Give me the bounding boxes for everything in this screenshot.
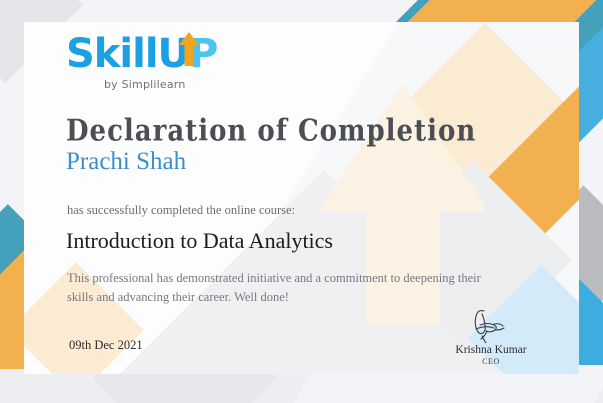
signer-name: Krishna Kumar: [432, 344, 550, 356]
page-title: Declaration of Completion: [66, 114, 476, 149]
signature-block: Krishna Kumar CEO: [432, 305, 550, 366]
certificate-content: SkillUP by Simplilearn Declaration of Co…: [0, 0, 603, 403]
up-arrow-icon: [178, 32, 200, 66]
logo-text-skill: Skill: [66, 31, 158, 77]
recipient-name: Prachi Shah: [66, 148, 186, 176]
skillup-logo: SkillUP by Simplilearn: [66, 34, 266, 90]
issue-date: 09th Dec 2021: [69, 338, 143, 353]
handwritten-signature-icon: [432, 305, 550, 343]
course-name: Introduction to Data Analytics: [66, 228, 333, 254]
certificate: SkillUP by Simplilearn Declaration of Co…: [0, 0, 603, 403]
lead-in-text: has successfully completed the online co…: [67, 203, 295, 218]
logo-wordmark: SkillUP: [66, 34, 266, 74]
signer-title: CEO: [432, 357, 550, 366]
logo-tagline: by Simplilearn: [104, 78, 186, 91]
certificate-blurb: This professional has demonstrated initi…: [67, 269, 497, 308]
